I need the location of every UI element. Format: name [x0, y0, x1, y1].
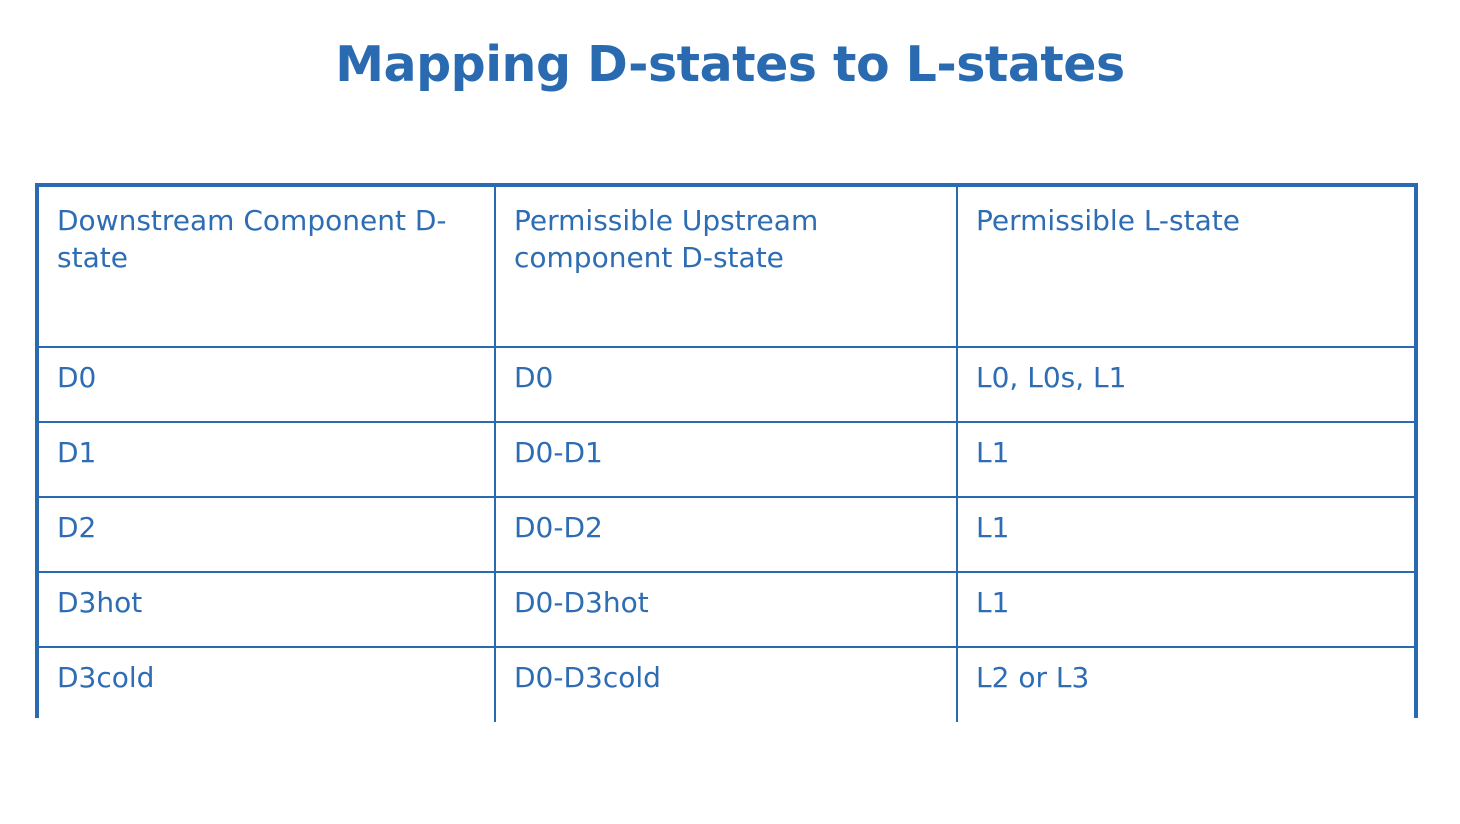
- cell-downstream-d-state: D0: [39, 347, 495, 422]
- d-state-to-l-state-table: Downstream Component D-state Permissible…: [39, 187, 1414, 722]
- table-body: D0 D0 L0, L0s, L1 D1 D0-D1 L1 D2 D0-D2 L…: [39, 347, 1414, 722]
- cell-upstream-d-state: D0-D3cold: [495, 647, 957, 722]
- slide: Mapping D-states to L-states Downstream …: [0, 0, 1460, 824]
- table-row: D3cold D0-D3cold L2 or L3: [39, 647, 1414, 722]
- table-row: D2 D0-D2 L1: [39, 497, 1414, 572]
- mapping-table-container: Downstream Component D-state Permissible…: [35, 183, 1418, 718]
- column-header-upstream-d-state: Permissible Upstream component D-state: [495, 187, 957, 347]
- table-row: D0 D0 L0, L0s, L1: [39, 347, 1414, 422]
- table-row: D3hot D0-D3hot L1: [39, 572, 1414, 647]
- column-header-permissible-l-state: Permissible L-state: [957, 187, 1414, 347]
- cell-permissible-l-state: L0, L0s, L1: [957, 347, 1414, 422]
- cell-upstream-d-state: D0: [495, 347, 957, 422]
- cell-downstream-d-state: D3cold: [39, 647, 495, 722]
- cell-upstream-d-state: D0-D3hot: [495, 572, 957, 647]
- cell-permissible-l-state: L2 or L3: [957, 647, 1414, 722]
- table-row: D1 D0-D1 L1: [39, 422, 1414, 497]
- cell-upstream-d-state: D0-D1: [495, 422, 957, 497]
- cell-permissible-l-state: L1: [957, 422, 1414, 497]
- cell-upstream-d-state: D0-D2: [495, 497, 957, 572]
- table-header-row: Downstream Component D-state Permissible…: [39, 187, 1414, 347]
- cell-downstream-d-state: D1: [39, 422, 495, 497]
- cell-permissible-l-state: L1: [957, 497, 1414, 572]
- cell-downstream-d-state: D3hot: [39, 572, 495, 647]
- cell-permissible-l-state: L1: [957, 572, 1414, 647]
- column-header-downstream-d-state: Downstream Component D-state: [39, 187, 495, 347]
- cell-downstream-d-state: D2: [39, 497, 495, 572]
- page-title: Mapping D-states to L-states: [0, 38, 1460, 92]
